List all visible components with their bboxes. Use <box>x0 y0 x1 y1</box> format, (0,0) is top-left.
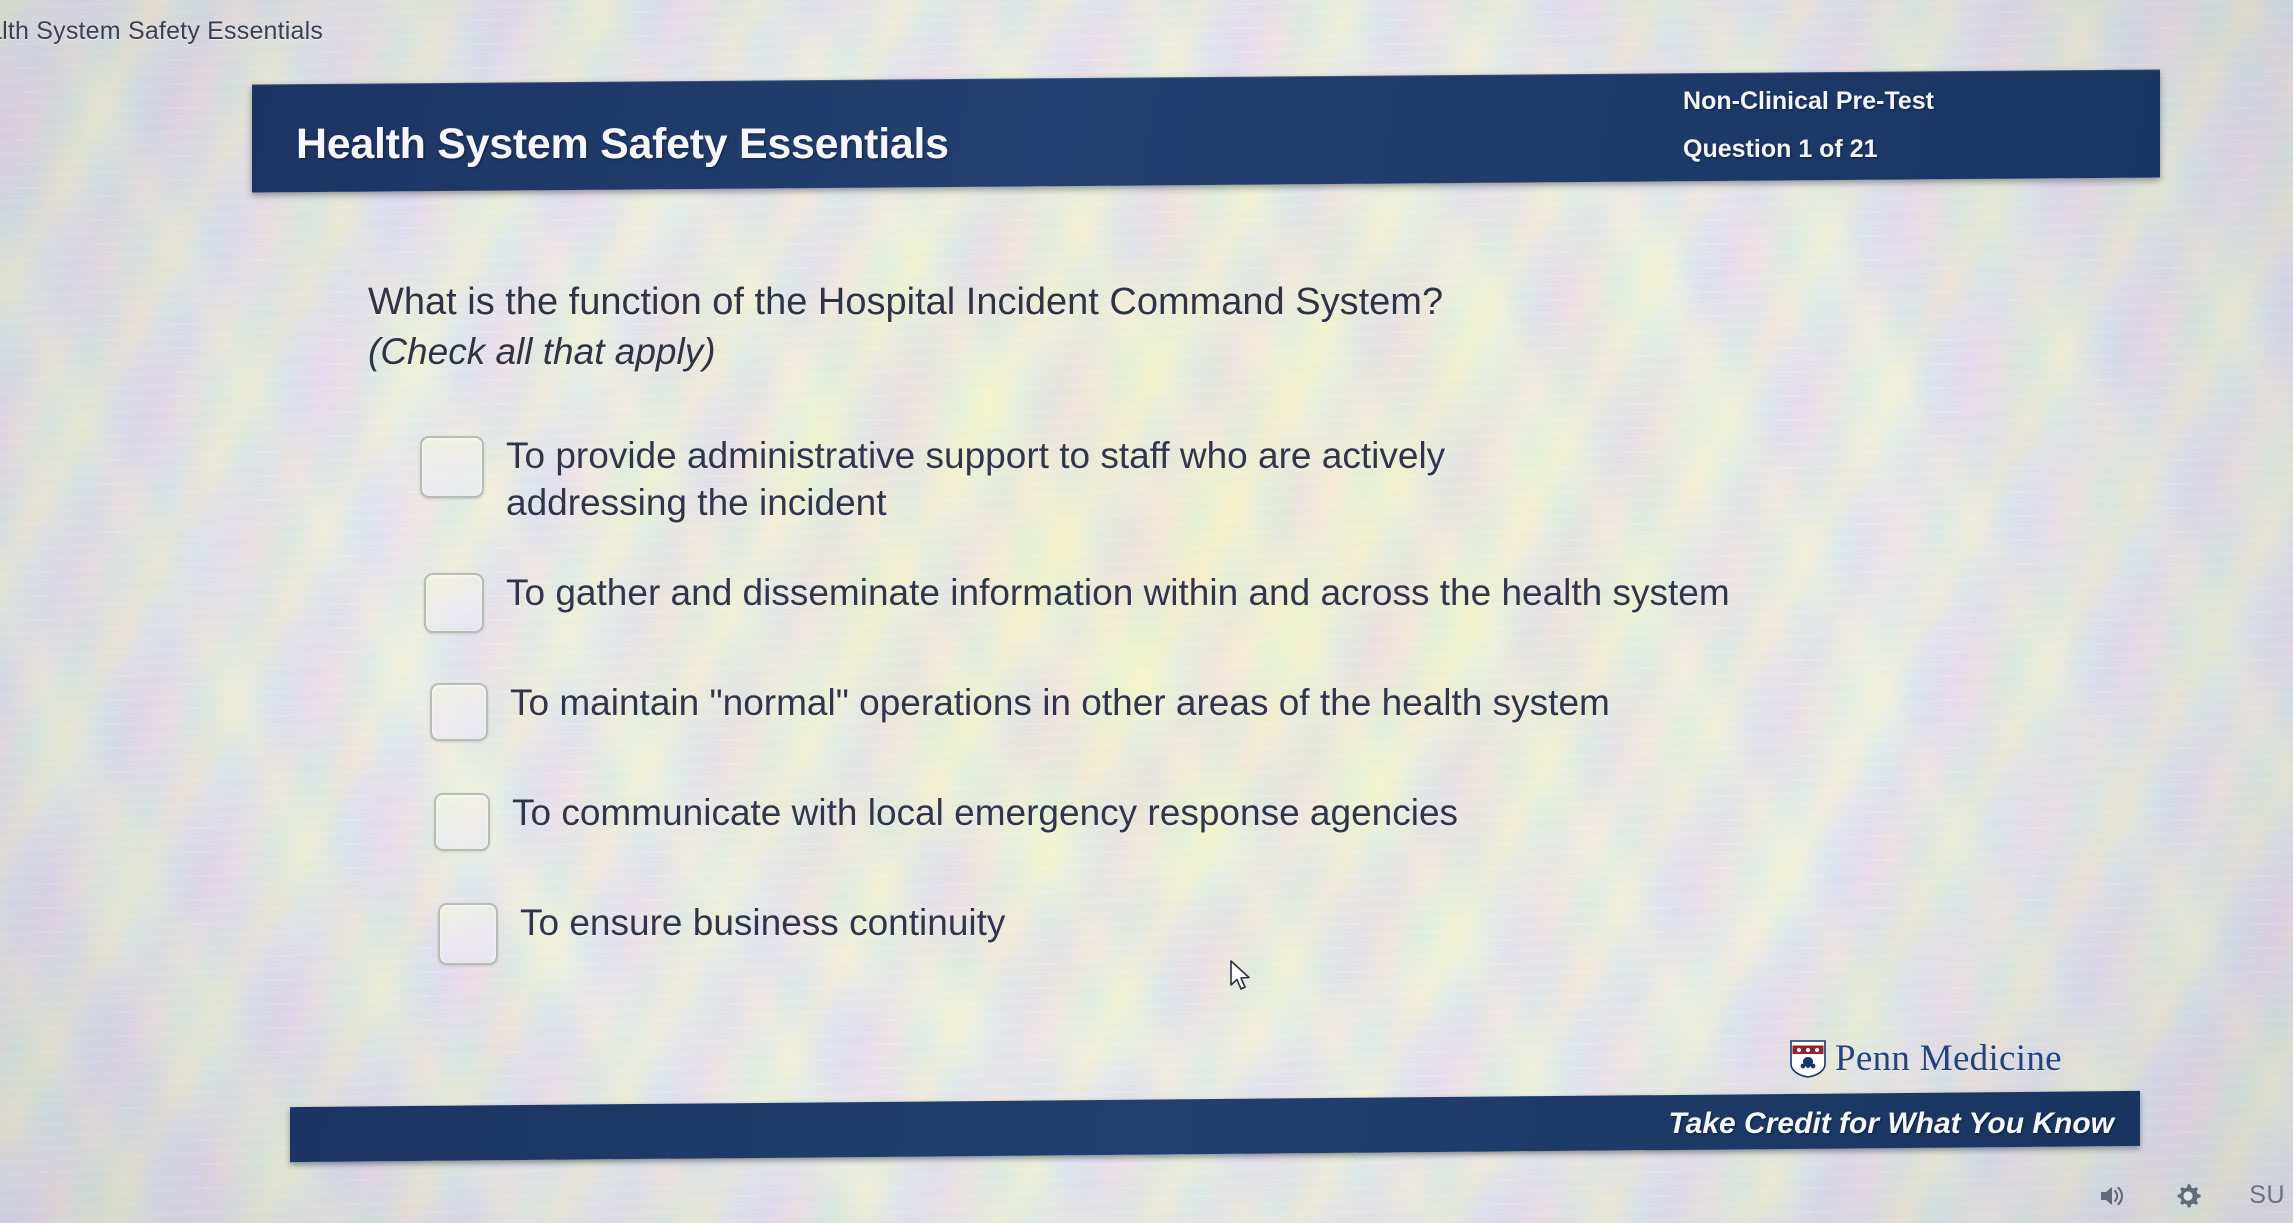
answer-options-list: To provide administrative support to sta… <box>412 432 2112 965</box>
answer-option-5[interactable]: To ensure business continuity <box>438 899 2112 965</box>
question-block: What is the function of the Hospital Inc… <box>368 280 2048 373</box>
speaker-volume-icon[interactable] <box>2097 1181 2127 1211</box>
gear-settings-icon[interactable] <box>2173 1181 2203 1211</box>
answer-option-2[interactable]: To gather and disseminate information wi… <box>424 569 2112 633</box>
checkbox-option-4[interactable] <box>434 793 490 851</box>
window-title-clipped: alth System Safety Essentials <box>0 17 323 46</box>
page-title: Health System Safety Essentials <box>296 120 949 169</box>
mouse-arrow-cursor <box>1229 960 1251 992</box>
checkbox-option-3[interactable] <box>430 683 488 741</box>
checkbox-option-2[interactable] <box>424 573 484 633</box>
penn-medicine-wordmark: Penn Medicine <box>1835 1037 2062 1080</box>
answer-option-1[interactable]: To provide administrative support to sta… <box>420 432 2112 527</box>
question-progress: Question 1 of 21 <box>1683 137 1934 162</box>
penn-shield-icon <box>1790 1040 1826 1078</box>
answer-option-1-label: To provide administrative support to sta… <box>506 432 1586 527</box>
answer-option-3-label: To maintain "normal" operations in other… <box>510 679 1610 726</box>
answer-option-2-label: To gather and disseminate information wi… <box>506 569 1730 616</box>
assessment-meta: Non-Clinical Pre-Test Question 1 of 21 <box>1683 89 1934 162</box>
assessment-name: Non-Clinical Pre-Test <box>1683 89 1934 114</box>
slide-header-bar: Health System Safety Essentials Non-Clin… <box>252 70 2160 193</box>
checkbox-option-5[interactable] <box>438 903 498 965</box>
footer-tagline: Take Credit for What You Know <box>1668 1107 2114 1141</box>
tray-clipped-label: SU <box>2249 1181 2285 1210</box>
penn-medicine-logo: Penn Medicine <box>1790 1037 2062 1080</box>
checkbox-option-1[interactable] <box>420 436 484 498</box>
answer-option-4[interactable]: To communicate with local emergency resp… <box>434 789 2112 851</box>
screenshot-root: alth System Safety Essentials Health Sys… <box>0 0 2293 1223</box>
question-instruction: (Check all that apply) <box>368 331 2048 373</box>
question-stem: What is the function of the Hospital Inc… <box>368 280 2048 325</box>
answer-option-4-label: To communicate with local emergency resp… <box>512 789 1458 836</box>
answer-option-3[interactable]: To maintain "normal" operations in other… <box>430 679 2112 741</box>
system-tray: SU <box>2097 1168 2293 1223</box>
slide-footer-bar: Take Credit for What You Know <box>290 1091 2140 1162</box>
answer-option-5-label: To ensure business continuity <box>520 899 1005 946</box>
